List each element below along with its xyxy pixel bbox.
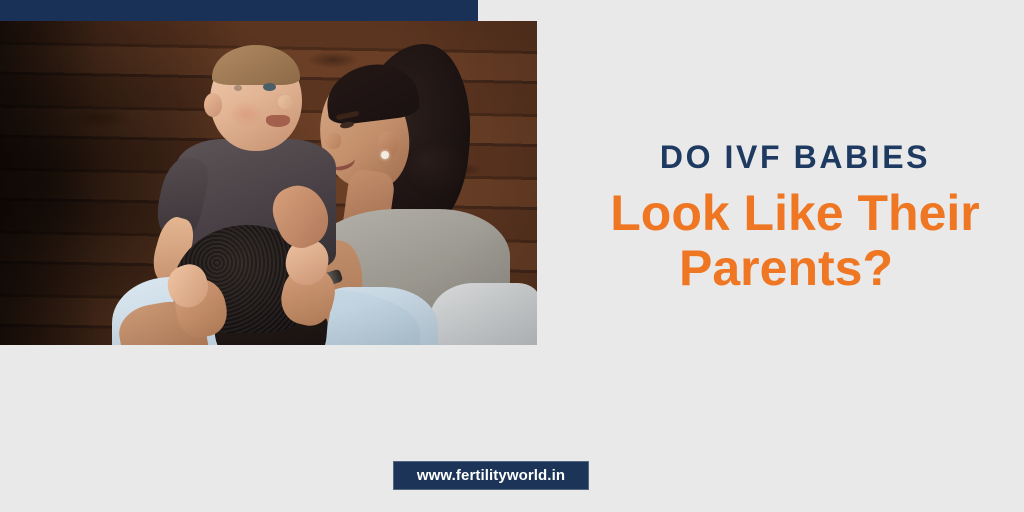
headline-title-line-1: Look Like Their (560, 185, 1024, 241)
family-photo-scene (0, 21, 537, 345)
baby-ear (204, 93, 222, 117)
baby-eye (263, 83, 276, 91)
mother-earring (381, 151, 389, 159)
website-url-text: www.fertilityworld.in (417, 467, 565, 484)
baby-cheek (228, 101, 264, 127)
baby-nose (278, 95, 293, 109)
baby-far-eye (234, 85, 242, 91)
headline-title-line-2: Parents? (560, 241, 1024, 296)
mother-leg (430, 283, 537, 345)
mother-nose (325, 133, 341, 149)
headline-kicker: DO IVF BABIES (560, 140, 1024, 175)
top-navy-accent-bar (0, 0, 478, 21)
ivf-article-banner: DO IVF BABIES Look Like Their Parents? w… (0, 0, 1024, 512)
family-photo (0, 21, 537, 345)
website-url-badge[interactable]: www.fertilityworld.in (393, 461, 589, 490)
baby-mouth (266, 115, 290, 127)
headline-block: DO IVF BABIES Look Like Their Parents? (560, 140, 1024, 296)
